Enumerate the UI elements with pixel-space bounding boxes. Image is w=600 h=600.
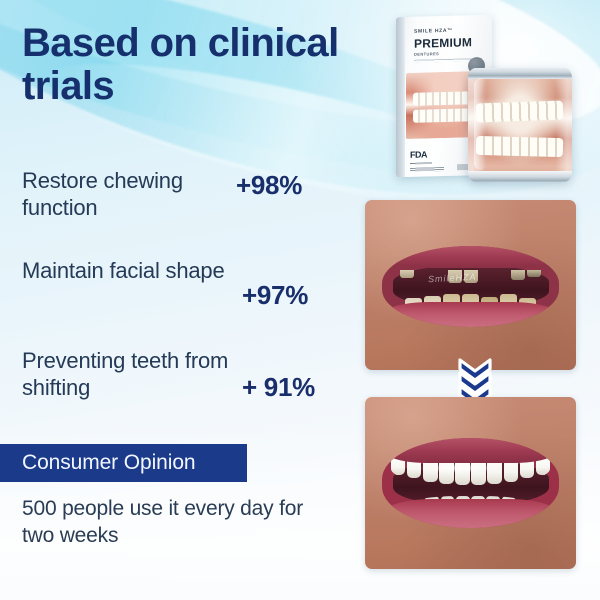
fda-badge: FDA <box>410 149 427 159</box>
consumer-opinion-label: Consumer Opinion <box>22 451 196 475</box>
benefits-list: Restore chewing function +98% Maintain f… <box>22 168 352 438</box>
jar-lower-teeth <box>476 136 564 157</box>
benefit-value: +98% <box>236 170 356 201</box>
benefit-value: +97% <box>242 280 362 311</box>
jar-highlight <box>474 78 487 170</box>
product-brand: SMILE HZA™ <box>414 28 453 35</box>
before-photo: SmileHZA <box>365 200 576 370</box>
consumer-opinion-body: 500 people use it every day for two week… <box>22 496 332 550</box>
product-box-spine <box>396 17 405 177</box>
product-box-footer-left <box>410 167 444 172</box>
after-photo <box>365 397 576 569</box>
jar-base <box>468 171 572 182</box>
benefit-item: Restore chewing function +98% <box>22 168 352 258</box>
before-mouth <box>382 246 559 328</box>
before-upper-lip <box>382 246 559 268</box>
benefit-value: + 91% <box>242 372 362 403</box>
denture-jar <box>468 68 572 182</box>
jar-upper-teeth <box>476 100 564 122</box>
benefit-label: Maintain facial shape <box>22 258 237 285</box>
page-title: Based on clinical trials <box>22 22 372 108</box>
product-pack: SMILE HZA™ PREMIUM DENTURES FDA <box>396 16 596 188</box>
benefit-item: Maintain facial shape +97% <box>22 258 352 348</box>
advertisement-banner: Based on clinical trials Restore chewing… <box>0 0 600 600</box>
after-lower-lip <box>382 499 559 527</box>
fda-badge-subtext <box>410 162 432 165</box>
after-mouth <box>382 438 559 527</box>
benefit-label: Preventing teeth from shifting <box>22 348 237 402</box>
benefit-item: Preventing teeth from shifting + 91% <box>22 348 352 438</box>
consumer-opinion-banner: Consumer Opinion <box>0 444 247 482</box>
benefit-label: Restore chewing function <box>22 168 237 222</box>
product-title: PREMIUM <box>414 35 472 51</box>
before-lower-lip <box>382 302 559 328</box>
product-subtitle: DENTURES <box>414 51 439 57</box>
jar-lid <box>468 68 572 79</box>
after-upper-lip <box>382 438 559 463</box>
